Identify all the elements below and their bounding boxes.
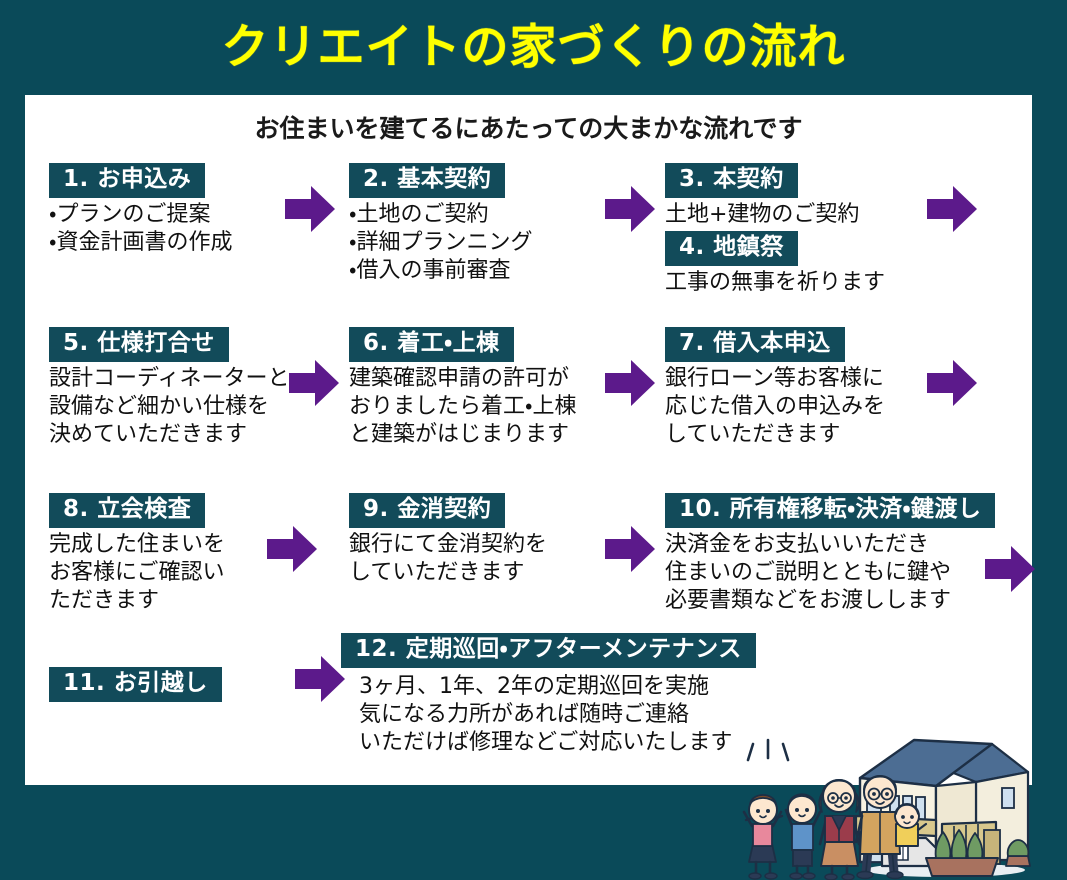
step-9: 9. 金消契約 銀行にて金消契約を していただきます <box>349 493 547 587</box>
step-3-line-1: 土地+建物のご契約 <box>665 201 859 229</box>
step-11: 11. お引越し <box>49 667 222 702</box>
step-2-label: 2. 基本契約 <box>349 163 505 198</box>
page-title: クリエイトの家づくりの流れ <box>222 24 846 71</box>
step-5-line-2: 設備など細かい仕様を <box>49 393 289 421</box>
arrow-step6-to-step7 <box>603 357 657 409</box>
step-7: 7. 借入本申込 銀行ローン等お客様に 応じた借入の申込みを していただきます <box>665 327 885 450</box>
step-3-label: 3. 本契約 <box>665 163 798 198</box>
arrow-step2-to-step3 <box>603 183 657 235</box>
step-10-line-1: 決済金をお支払いいただき <box>665 531 995 559</box>
step-2: 2. 基本契約 ・土地のご契約 ・詳細プランニング ・借入の事前審査 <box>349 163 532 286</box>
step-9-line-2: していただきます <box>349 559 547 587</box>
step-1-line-2: ・資金計画書の作成 <box>49 229 232 257</box>
step-12-line-2: 気になる力所があれば随時ご連絡 <box>359 701 756 729</box>
step-5-line-1: 設計コーディネーターと <box>49 365 289 393</box>
step-6-line-1: 建築確認申請の許可が <box>349 365 576 393</box>
step-11-label: 11. お引越し <box>49 667 222 702</box>
step-6-line-2: おりましたら着工・上棟 <box>349 393 576 421</box>
step-12-label: 12. 定期巡回・アフターメンテナンス <box>341 633 756 668</box>
step-12-line-3: いただけば修理などご対応いたします <box>359 729 756 757</box>
step-2-line-3: ・借入の事前審査 <box>349 257 532 285</box>
step-9-label: 9. 金消契約 <box>349 493 505 528</box>
panel-subtitle: お住まいを建てるにあたっての大まかな流れです <box>25 109 1032 145</box>
step-2-line-1: ・土地のご契約 <box>349 201 532 229</box>
step-4-label: 4. 地鎮祭 <box>665 231 798 266</box>
step-3: 3. 本契約 土地+建物のご契約 <box>665 163 859 229</box>
step-8-line-3: ただきます <box>49 587 225 615</box>
arrow-row3-continue <box>983 543 1037 595</box>
step-8-label: 8. 立会検査 <box>49 493 205 528</box>
step-12-line-1: 3ヶ月、1年、2年の定期巡回を実施 <box>359 673 756 701</box>
step-5-line-3: 決めていただきます <box>49 421 289 449</box>
arrow-step8-to-step9 <box>265 523 319 575</box>
step-10-line-2: 住まいのご説明とともに鍵や <box>665 559 995 587</box>
step-6-body: 建築確認申請の許可が おりましたら着工・上棟 と建築がはじまります <box>349 365 576 449</box>
arrow-row1-continue <box>925 183 979 235</box>
step-2-body: ・土地のご契約 ・詳細プランニング ・借入の事前審査 <box>349 201 532 285</box>
step-3-body: 土地+建物のご契約 <box>665 201 859 229</box>
step-6-line-3: と建築がはじまります <box>349 421 576 449</box>
step-1-label: 1. お申込み <box>49 163 205 198</box>
step-6: 6. 着工・上棟 建築確認申請の許可が おりましたら着工・上棟 と建築がはじまり… <box>349 327 576 450</box>
step-10-line-3: 必要書類などをお渡しします <box>665 587 995 615</box>
arrow-row2-continue <box>925 357 979 409</box>
step-9-line-1: 銀行にて金消契約を <box>349 531 547 559</box>
step-2-line-2: ・詳細プランニング <box>349 229 532 257</box>
step-6-label: 6. 着工・上棟 <box>349 327 514 362</box>
step-5-label: 5. 仕様打合せ <box>49 327 229 362</box>
step-1: 1. お申込み ・プランのご提案 ・資金計画書の作成 <box>49 163 232 257</box>
step-10-body: 決済金をお支払いいただき 住まいのご説明とともに鍵や 必要書類などをお渡しします <box>665 531 995 615</box>
arrow-step5-to-step6 <box>287 357 341 409</box>
step-7-line-1: 銀行ローン等お客様に <box>665 365 885 393</box>
step-9-body: 銀行にて金消契約を していただきます <box>349 531 547 587</box>
step-5-body: 設計コーディネーターと 設備など細かい仕様を 決めていただきます <box>49 365 289 449</box>
arrow-step1-to-step2 <box>283 183 337 235</box>
step-12: 12. 定期巡回・アフターメンテナンス 3ヶ月、1年、2年の定期巡回を実施 気に… <box>341 633 756 758</box>
step-1-body: ・プランのご提案 ・資金計画書の作成 <box>49 201 232 257</box>
step-4-line-1: 工事の無事を祈ります <box>665 269 885 297</box>
arrow-step9-to-step10 <box>603 523 657 575</box>
content-panel: お住まいを建てるにあたっての大まかな流れです 1. お申込み ・プランのご提案 … <box>25 95 1032 785</box>
step-4-body: 工事の無事を祈ります <box>665 269 885 297</box>
step-10-label: 10. 所有権移転・決済・鍵渡し <box>665 493 995 528</box>
step-10: 10. 所有権移転・決済・鍵渡し 決済金をお支払いいただき 住まいのご説明ととも… <box>665 493 995 616</box>
poster-title-bar: クリエイトの家づくりの流れ <box>0 0 1067 95</box>
step-8-line-2: お客様にご確認い <box>49 559 225 587</box>
step-12-body: 3ヶ月、1年、2年の定期巡回を実施 気になる力所があれば随時ご連絡 いただけば修… <box>359 673 756 757</box>
step-5: 5. 仕様打合せ 設計コーディネーターと 設備など細かい仕様を 決めていただきま… <box>49 327 289 450</box>
step-7-body: 銀行ローン等お客様に 応じた借入の申込みを していただきます <box>665 365 885 449</box>
step-8-line-1: 完成した住まいを <box>49 531 225 559</box>
family-in-front-of-house-illustration <box>740 720 1032 880</box>
poster-root: クリエイトの家づくりの流れ お住まいを建てるにあたっての大まかな流れです 1. … <box>0 0 1067 800</box>
step-4: 4. 地鎮祭 工事の無事を祈ります <box>665 231 885 297</box>
step-1-line-1: ・プランのご提案 <box>49 201 232 229</box>
step-7-label: 7. 借入本申込 <box>665 327 845 362</box>
step-7-line-2: 応じた借入の申込みを <box>665 393 885 421</box>
step-8-body: 完成した住まいを お客様にご確認い ただきます <box>49 531 225 615</box>
step-8: 8. 立会検査 完成した住まいを お客様にご確認い ただきます <box>49 493 225 616</box>
arrow-step11-to-step12 <box>293 653 347 705</box>
step-7-line-3: していただきます <box>665 421 885 449</box>
